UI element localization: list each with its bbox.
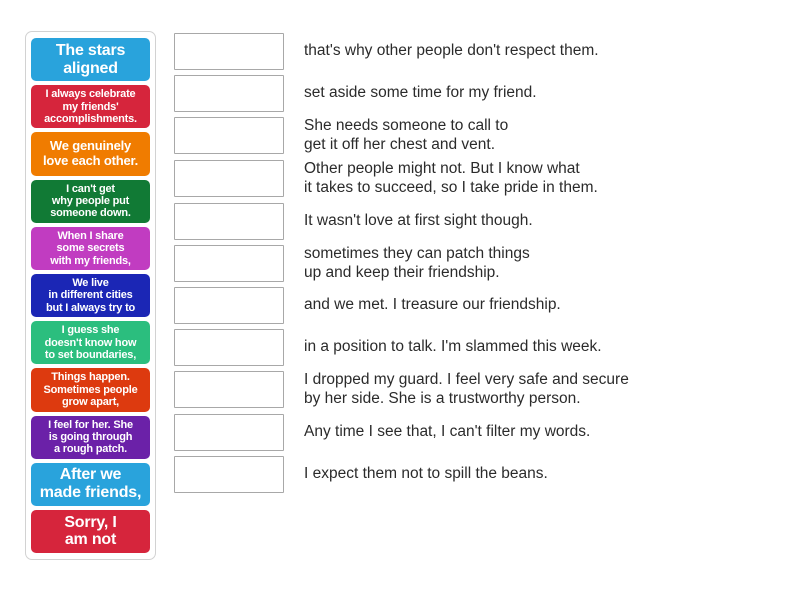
answer-row: Other people might not. But I know what …	[174, 160, 774, 198]
answer-row: that's why other people don't respect th…	[174, 33, 774, 70]
draggable-tile-3[interactable]: We genuinely love each other.	[31, 132, 150, 175]
answer-text-6: sometimes they can patch things up and k…	[304, 245, 530, 283]
answer-text-2: set aside some time for my friend.	[304, 75, 537, 103]
dropzone-6[interactable]	[174, 245, 284, 282]
answer-text-3: She needs someone to call to get it off …	[304, 117, 508, 155]
answer-rows: that's why other people don't respect th…	[174, 33, 774, 498]
draggable-tile-5[interactable]: When I share some secrets with my friend…	[31, 227, 150, 270]
draggable-tiles-panel: The stars alignedI always celebrate my f…	[25, 31, 156, 560]
answer-text-1: that's why other people don't respect th…	[304, 33, 599, 61]
dropzone-11[interactable]	[174, 456, 284, 493]
dropzone-2[interactable]	[174, 75, 284, 112]
answer-text-4: Other people might not. But I know what …	[304, 160, 598, 198]
answer-row: It wasn't love at first sight though.	[174, 203, 774, 240]
dropzone-3[interactable]	[174, 117, 284, 154]
answer-row: Any time I see that, I can't filter my w…	[174, 414, 774, 451]
answer-row: I expect them not to spill the beans.	[174, 456, 774, 493]
dropzone-7[interactable]	[174, 287, 284, 324]
draggable-tile-4[interactable]: I can't get why people put someone down.	[31, 180, 150, 223]
dropzone-1[interactable]	[174, 33, 284, 70]
answer-text-10: Any time I see that, I can't filter my w…	[304, 414, 590, 442]
dropzone-10[interactable]	[174, 414, 284, 451]
draggable-tile-2[interactable]: I always celebrate my friends' accomplis…	[31, 85, 150, 128]
draggable-tile-6[interactable]: We live in different cities but I always…	[31, 274, 150, 317]
draggable-tile-11[interactable]: Sorry, I am not	[31, 510, 150, 553]
draggable-tile-1[interactable]: The stars aligned	[31, 38, 150, 81]
dropzone-4[interactable]	[174, 160, 284, 197]
draggable-tile-10[interactable]: After we made friends,	[31, 463, 150, 506]
answer-row: sometimes they can patch things up and k…	[174, 245, 774, 283]
answer-text-9: I dropped my guard. I feel very safe and…	[304, 371, 629, 409]
answer-text-8: in a position to talk. I'm slammed this …	[304, 329, 602, 357]
dropzone-9[interactable]	[174, 371, 284, 408]
dropzone-5[interactable]	[174, 203, 284, 240]
draggable-tile-9[interactable]: I feel for her. She is going through a r…	[31, 416, 150, 459]
draggable-tile-7[interactable]: I guess she doesn't know how to set boun…	[31, 321, 150, 364]
answer-text-11: I expect them not to spill the beans.	[304, 456, 548, 484]
answer-row: set aside some time for my friend.	[174, 75, 774, 112]
answer-row: She needs someone to call to get it off …	[174, 117, 774, 155]
answer-row: and we met. I treasure our friendship.	[174, 287, 774, 324]
draggable-tile-8[interactable]: Things happen. Sometimes people grow apa…	[31, 368, 150, 411]
dropzone-8[interactable]	[174, 329, 284, 366]
activity-canvas: The stars alignedI always celebrate my f…	[0, 0, 800, 600]
answer-text-5: It wasn't love at first sight though.	[304, 203, 533, 231]
answer-text-7: and we met. I treasure our friendship.	[304, 287, 561, 315]
answer-row: I dropped my guard. I feel very safe and…	[174, 371, 774, 409]
answer-row: in a position to talk. I'm slammed this …	[174, 329, 774, 366]
